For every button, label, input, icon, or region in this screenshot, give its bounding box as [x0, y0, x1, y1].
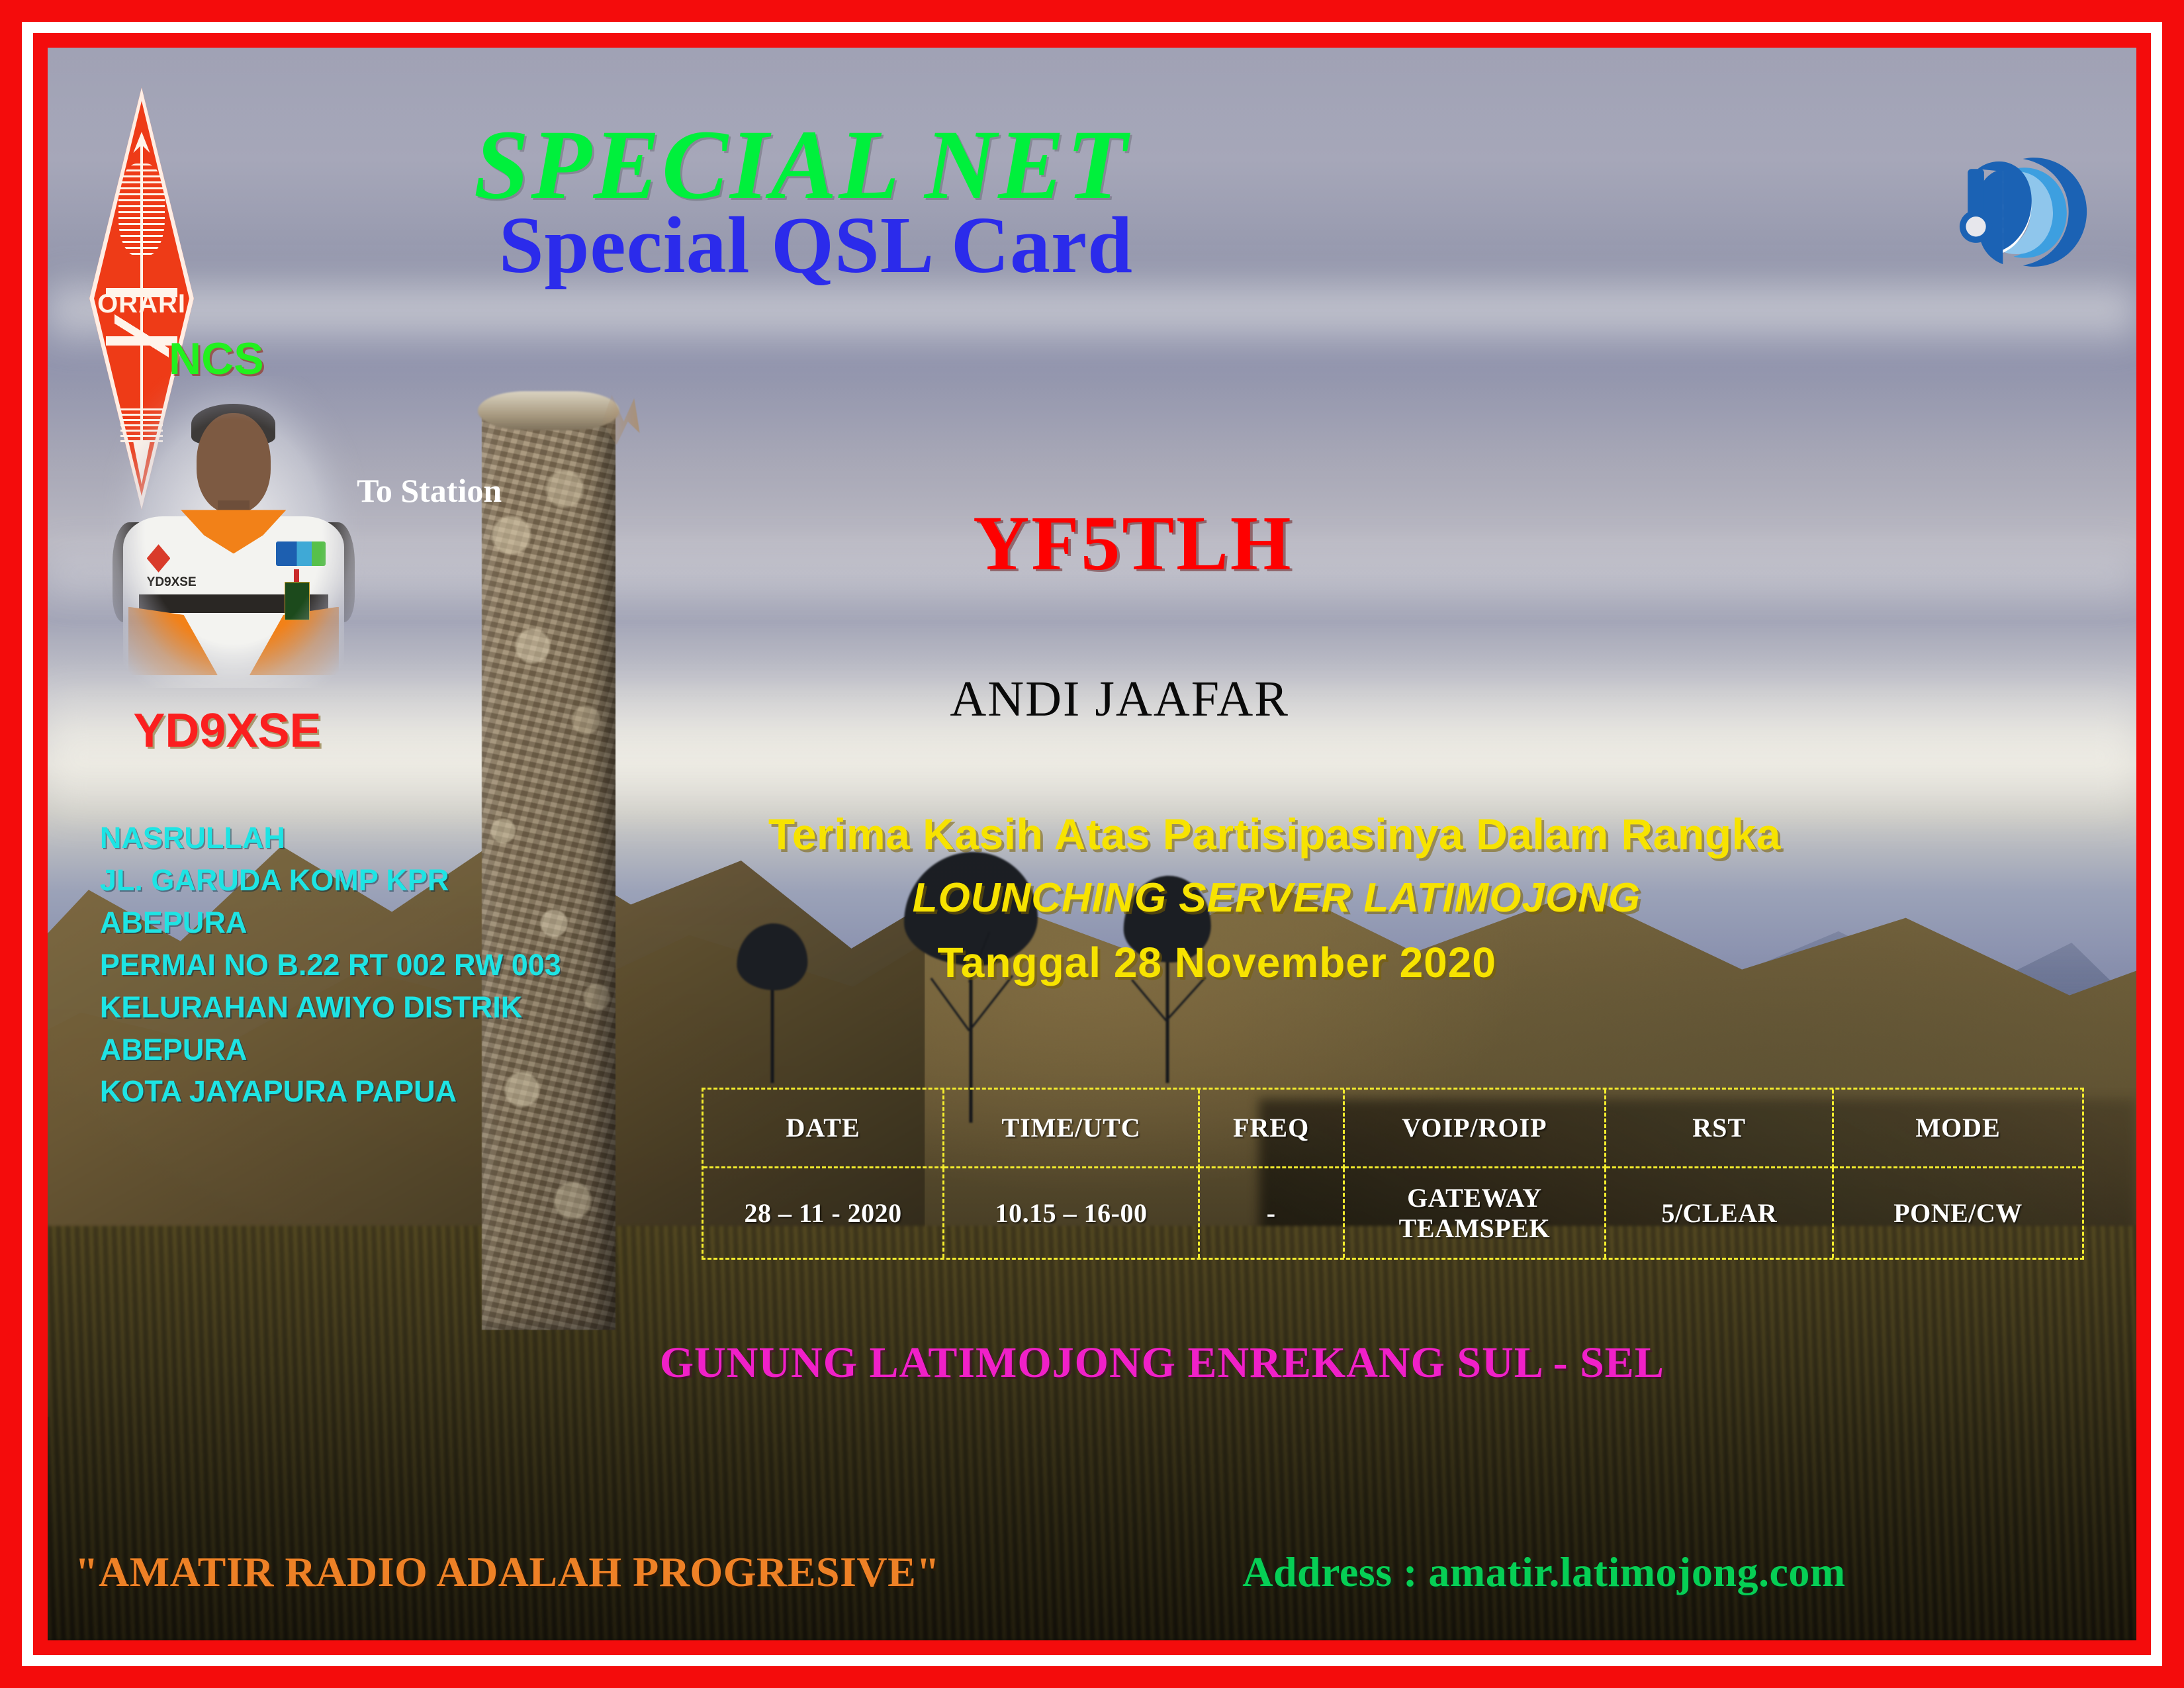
table-header-time: TIME/UTC	[944, 1090, 1199, 1168]
ncs-operator-photo: YD9XSE	[102, 376, 365, 688]
address-line: KOTA JAYAPURA PAPUA	[100, 1070, 561, 1113]
card-background-photo: ORARI SPECIAL NET Special QSL Card	[48, 48, 2136, 1640]
station-callsign: YF5TLH	[973, 498, 1293, 588]
qsl-card: ORARI SPECIAL NET Special QSL Card	[0, 0, 2184, 1688]
table-header-voip: VOIP/ROIP	[1345, 1090, 1607, 1168]
table-header-mode: MODE	[1834, 1090, 2082, 1168]
address-line: PERMAI NO B.22 RT 002 RW 003	[100, 944, 561, 986]
table-cell-date: 28 – 11 - 2020	[704, 1168, 945, 1258]
table-cell-freq: -	[1200, 1168, 1345, 1258]
table-header-date: DATE	[704, 1090, 945, 1168]
footer-slogan: "AMATIR RADIO ADALAH PROGRESIVE"	[75, 1548, 940, 1597]
message-line-1: Terima Kasih Atas Partisipasinya Dalam R…	[768, 809, 1781, 859]
address-line: NASRULLAH	[100, 817, 561, 859]
table-cell-mode: PONE/CW	[1834, 1168, 2082, 1258]
shirt-callsign-text: YD9XSE	[147, 575, 197, 590]
message-line-3: Tanggal 28 November 2020	[937, 938, 1496, 987]
table-cell-time: 10.15 – 16-00	[944, 1168, 1199, 1258]
radio-net-headset-logo	[1959, 73, 2091, 352]
orari-logo-word: ORARI	[89, 291, 194, 317]
to-station-label: To Station	[357, 471, 502, 510]
address-line: ABEPURA	[100, 1029, 561, 1071]
table-cell-voip-line2: TEAMSPEK	[1399, 1213, 1550, 1244]
page-subtitle: Special QSL Card	[499, 199, 1133, 292]
operator-name: ANDI JAAFAR	[950, 671, 1289, 728]
table-cell-rst: 5/CLEAR	[1606, 1168, 1834, 1258]
ncs-callsign: YD9XSE	[133, 704, 321, 758]
table-header-row: DATE TIME/UTC FREQ VOIP/ROIP RST MODE	[704, 1090, 2082, 1168]
table-cell-voip: GATEWAY TEAMSPEK	[1345, 1168, 1607, 1258]
table-header-rst: RST	[1606, 1090, 1834, 1168]
footer-address: Address : amatir.latimojong.com	[1242, 1548, 1845, 1597]
location-line: GUNUNG LATIMOJONG ENREKANG SUL - SEL	[660, 1338, 1664, 1388]
table-cell-voip-line1: GATEWAY	[1399, 1183, 1550, 1213]
address-line: ABEPURA	[100, 902, 561, 944]
table-header-freq: FREQ	[1200, 1090, 1345, 1168]
mailing-address-block: NASRULLAH JL. GARUDA KOMP KPR ABEPURA PE…	[100, 817, 561, 1113]
qso-details-table: DATE TIME/UTC FREQ VOIP/ROIP RST MODE 28…	[702, 1088, 2084, 1260]
address-line: KELURAHAN AWIYO DISTRIK	[100, 986, 561, 1029]
address-line: JL. GARUDA KOMP KPR	[100, 859, 561, 902]
table-row: 28 – 11 - 2020 10.15 – 16-00 - GATEWAY T…	[704, 1168, 2082, 1258]
message-line-2: LOUNCHING SERVER LATIMOJONG	[913, 874, 1641, 921]
